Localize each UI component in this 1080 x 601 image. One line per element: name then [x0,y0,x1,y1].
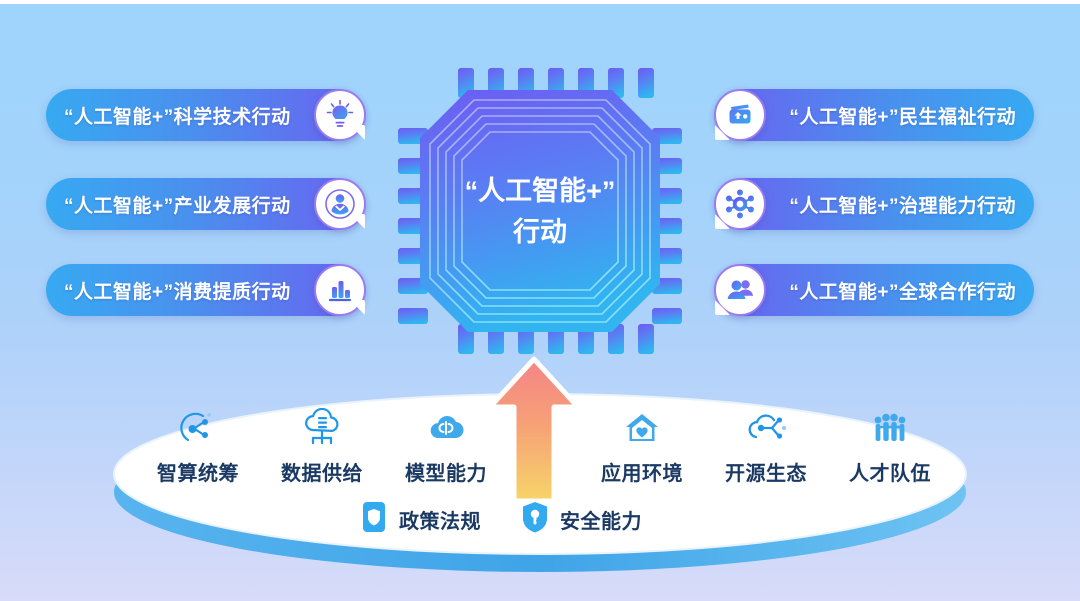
foundation-label: 模型能力 [405,457,487,486]
infographic-canvas: “人工智能+” 行动 “人工智能+”科学技术行动 [0,0,1080,601]
action-pill-welfare[interactable]: “人工智能+”民生福祉行动 [716,89,1034,141]
cloud-data-icon [300,404,344,450]
chip-title-line1: “人工智能+” [465,175,616,206]
bar-chart-icon [314,264,366,316]
foundation-label: 开源生态 [725,457,807,486]
action-pill-label: “人工智能+”民生福祉行动 [789,102,1016,129]
foundation-label: 数据供给 [281,457,363,486]
top-white-edge [0,0,1080,4]
action-pill-label: “人工智能+”科学技术行动 [64,102,291,129]
wallet-icon [714,89,766,141]
action-pill-label: “人工智能+”产业发展行动 [64,191,291,218]
action-pill-consumption[interactable]: “人工智能+”消费提质行动 [46,264,364,316]
foundation-label: 智算统筹 [157,457,239,486]
foundation-label: 政策法规 [399,505,481,534]
foundation-item-opensource[interactable]: 开源生态 [720,404,812,486]
cloud-brain-icon [424,404,468,450]
action-pill-label: “人工智能+”治理能力行动 [789,191,1016,218]
action-pill-governance[interactable]: “人工智能+”治理能力行动 [716,178,1034,230]
foundation-group-bottom: 政策法规 安全能力 [360,500,642,539]
cloud-branch-icon [743,404,789,450]
foundation-group-left: 智算统筹 [152,404,492,486]
action-pill-industry[interactable]: “人工智能+”产业发展行动 [46,178,364,230]
foundation-item-security[interactable]: 安全能力 [521,500,642,539]
foundation-item-model[interactable]: 模型能力 [400,404,492,486]
foundation-group-right: 应用环境 开源生态 [596,404,936,486]
foundation-item-application[interactable]: 应用环境 [596,404,688,486]
foundation-item-data[interactable]: 数据供给 [276,404,368,486]
chip-core: “人工智能+” 行动 [398,68,682,354]
foundation-label: 人才队伍 [849,457,931,486]
house-heart-icon [620,404,664,450]
people-group-icon [714,264,766,316]
people-talent-icon [867,404,913,450]
action-pill-global[interactable]: “人工智能+”全球合作行动 [716,264,1034,316]
foundation-label: 应用环境 [601,457,683,486]
policy-shield-icon [360,500,388,539]
growth-arrow-icon [486,355,582,505]
foundation-item-policy[interactable]: 政策法规 [360,500,481,539]
action-pill-label: “人工智能+”消费提质行动 [64,277,291,304]
foundation-label: 安全能力 [560,505,642,534]
network-share-icon [177,404,219,450]
action-pill-science[interactable]: “人工智能+”科学技术行动 [46,89,364,141]
lightbulb-icon [314,89,366,141]
security-shield-icon [521,500,549,539]
foundation-item-talent[interactable]: 人才队伍 [844,404,936,486]
chip-title-line2: 行动 [512,216,567,247]
industry-icon [314,178,366,230]
foundation-item-compute[interactable]: 智算统筹 [152,404,244,486]
action-pill-label: “人工智能+”全球合作行动 [789,277,1016,304]
gear-network-icon [714,178,766,230]
